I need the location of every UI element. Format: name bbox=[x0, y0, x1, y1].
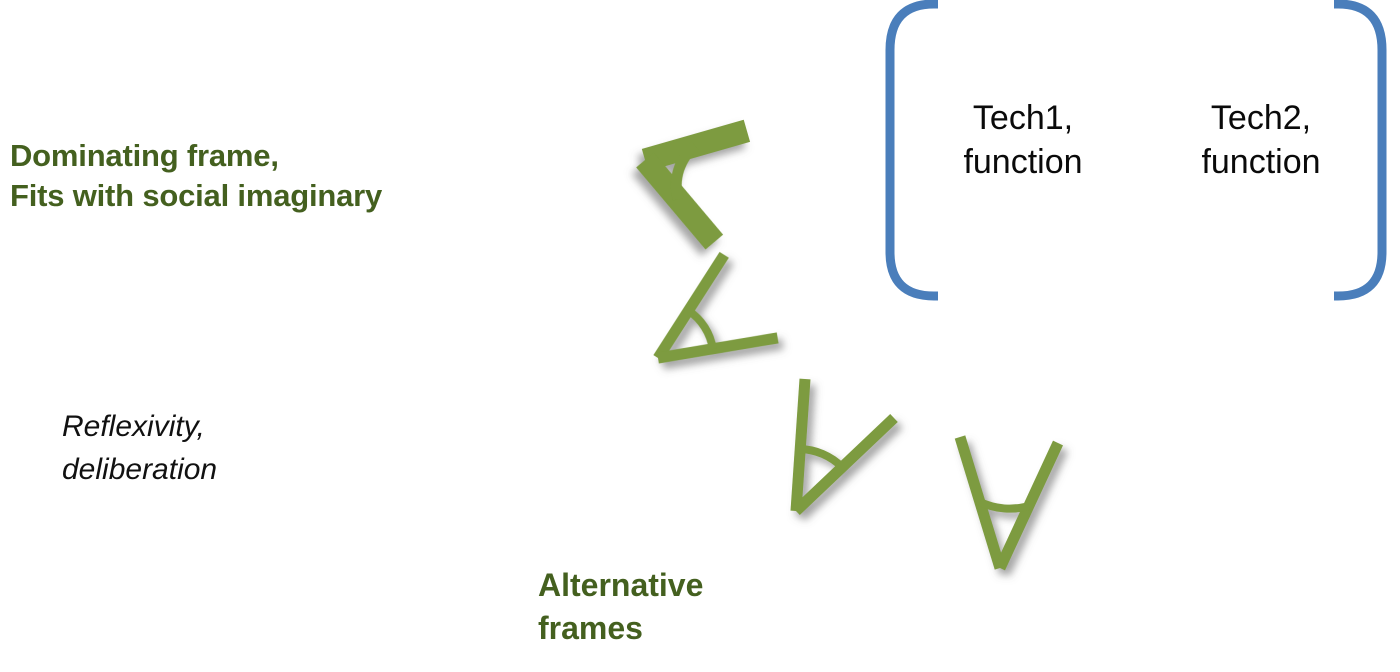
diagram-canvas: Dominating frame, Fits with social imagi… bbox=[0, 0, 1400, 672]
dominating-frame-label: Dominating frame, Fits with social imagi… bbox=[10, 136, 382, 217]
tech1-function-label: Tech1, function bbox=[930, 96, 1116, 184]
reflexivity-deliberation-label: Reflexivity, deliberation bbox=[62, 406, 217, 491]
tech2-function-label: Tech2, function bbox=[1168, 96, 1354, 184]
alternative-frames-label: Alternative frames bbox=[538, 564, 703, 650]
